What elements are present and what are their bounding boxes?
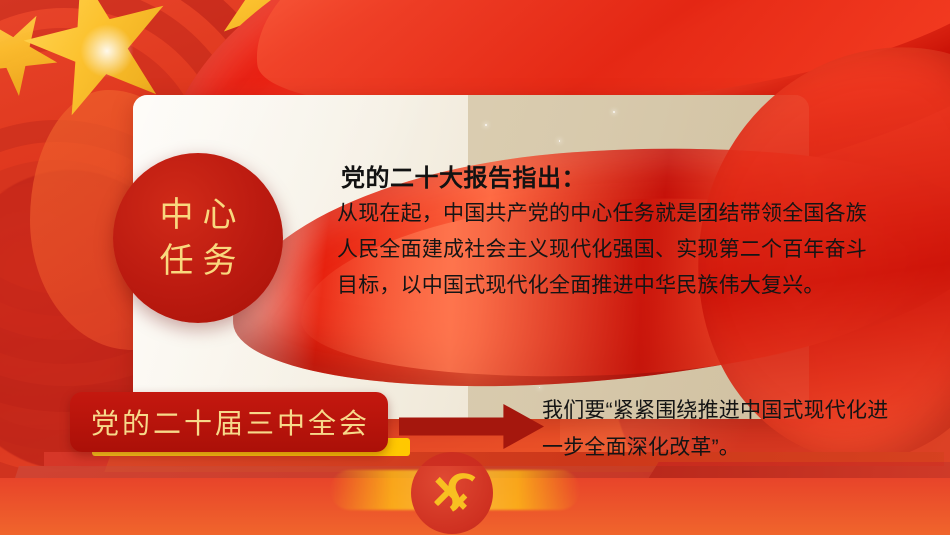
- center-task-badge: 中心 任务: [113, 153, 283, 323]
- reform-quote-text: 我们要“紧紧围绕推进中国式现代化进一步全面深化改革”。: [542, 392, 892, 466]
- gate-side-block: [836, 0, 932, 80]
- report-headline: 党的二十大报告指出：: [341, 158, 586, 193]
- badge-label-bottom: 任务: [151, 244, 246, 278]
- star-glint: [78, 22, 136, 80]
- badge-label-top: 中心: [151, 198, 246, 232]
- report-body-text: 从现在起，中国共产党的中心任务就是团结带领全国各族人民全面建成社会主义现代化强国…: [337, 196, 883, 304]
- gold-star-small-icon: [0, 0, 74, 112]
- banner-label: 党的二十届三中全会: [88, 402, 370, 442]
- gate-gold-trim: [572, 0, 854, 10]
- plenary-session-banner[interactable]: 党的二十届三中全会: [70, 392, 388, 452]
- slide-canvas: 中心 任务 党的二十大报告指出： 从现在起，中国共产党的中心任务就是团结带领全国…: [0, 0, 950, 535]
- gate-arch-windows: [588, 52, 838, 94]
- gold-star-medium-icon: [199, 0, 335, 65]
- tiananmen-gate-icon: [556, 0, 872, 96]
